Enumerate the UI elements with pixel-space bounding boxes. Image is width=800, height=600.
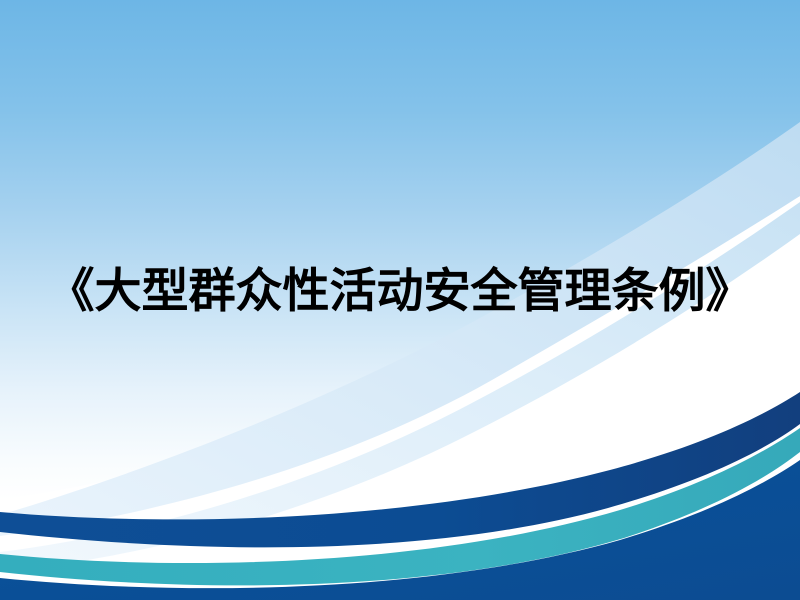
- slide-background-graphic: [0, 0, 800, 600]
- presentation-slide: 《大型群众性活动安全管理条例》: [0, 0, 800, 600]
